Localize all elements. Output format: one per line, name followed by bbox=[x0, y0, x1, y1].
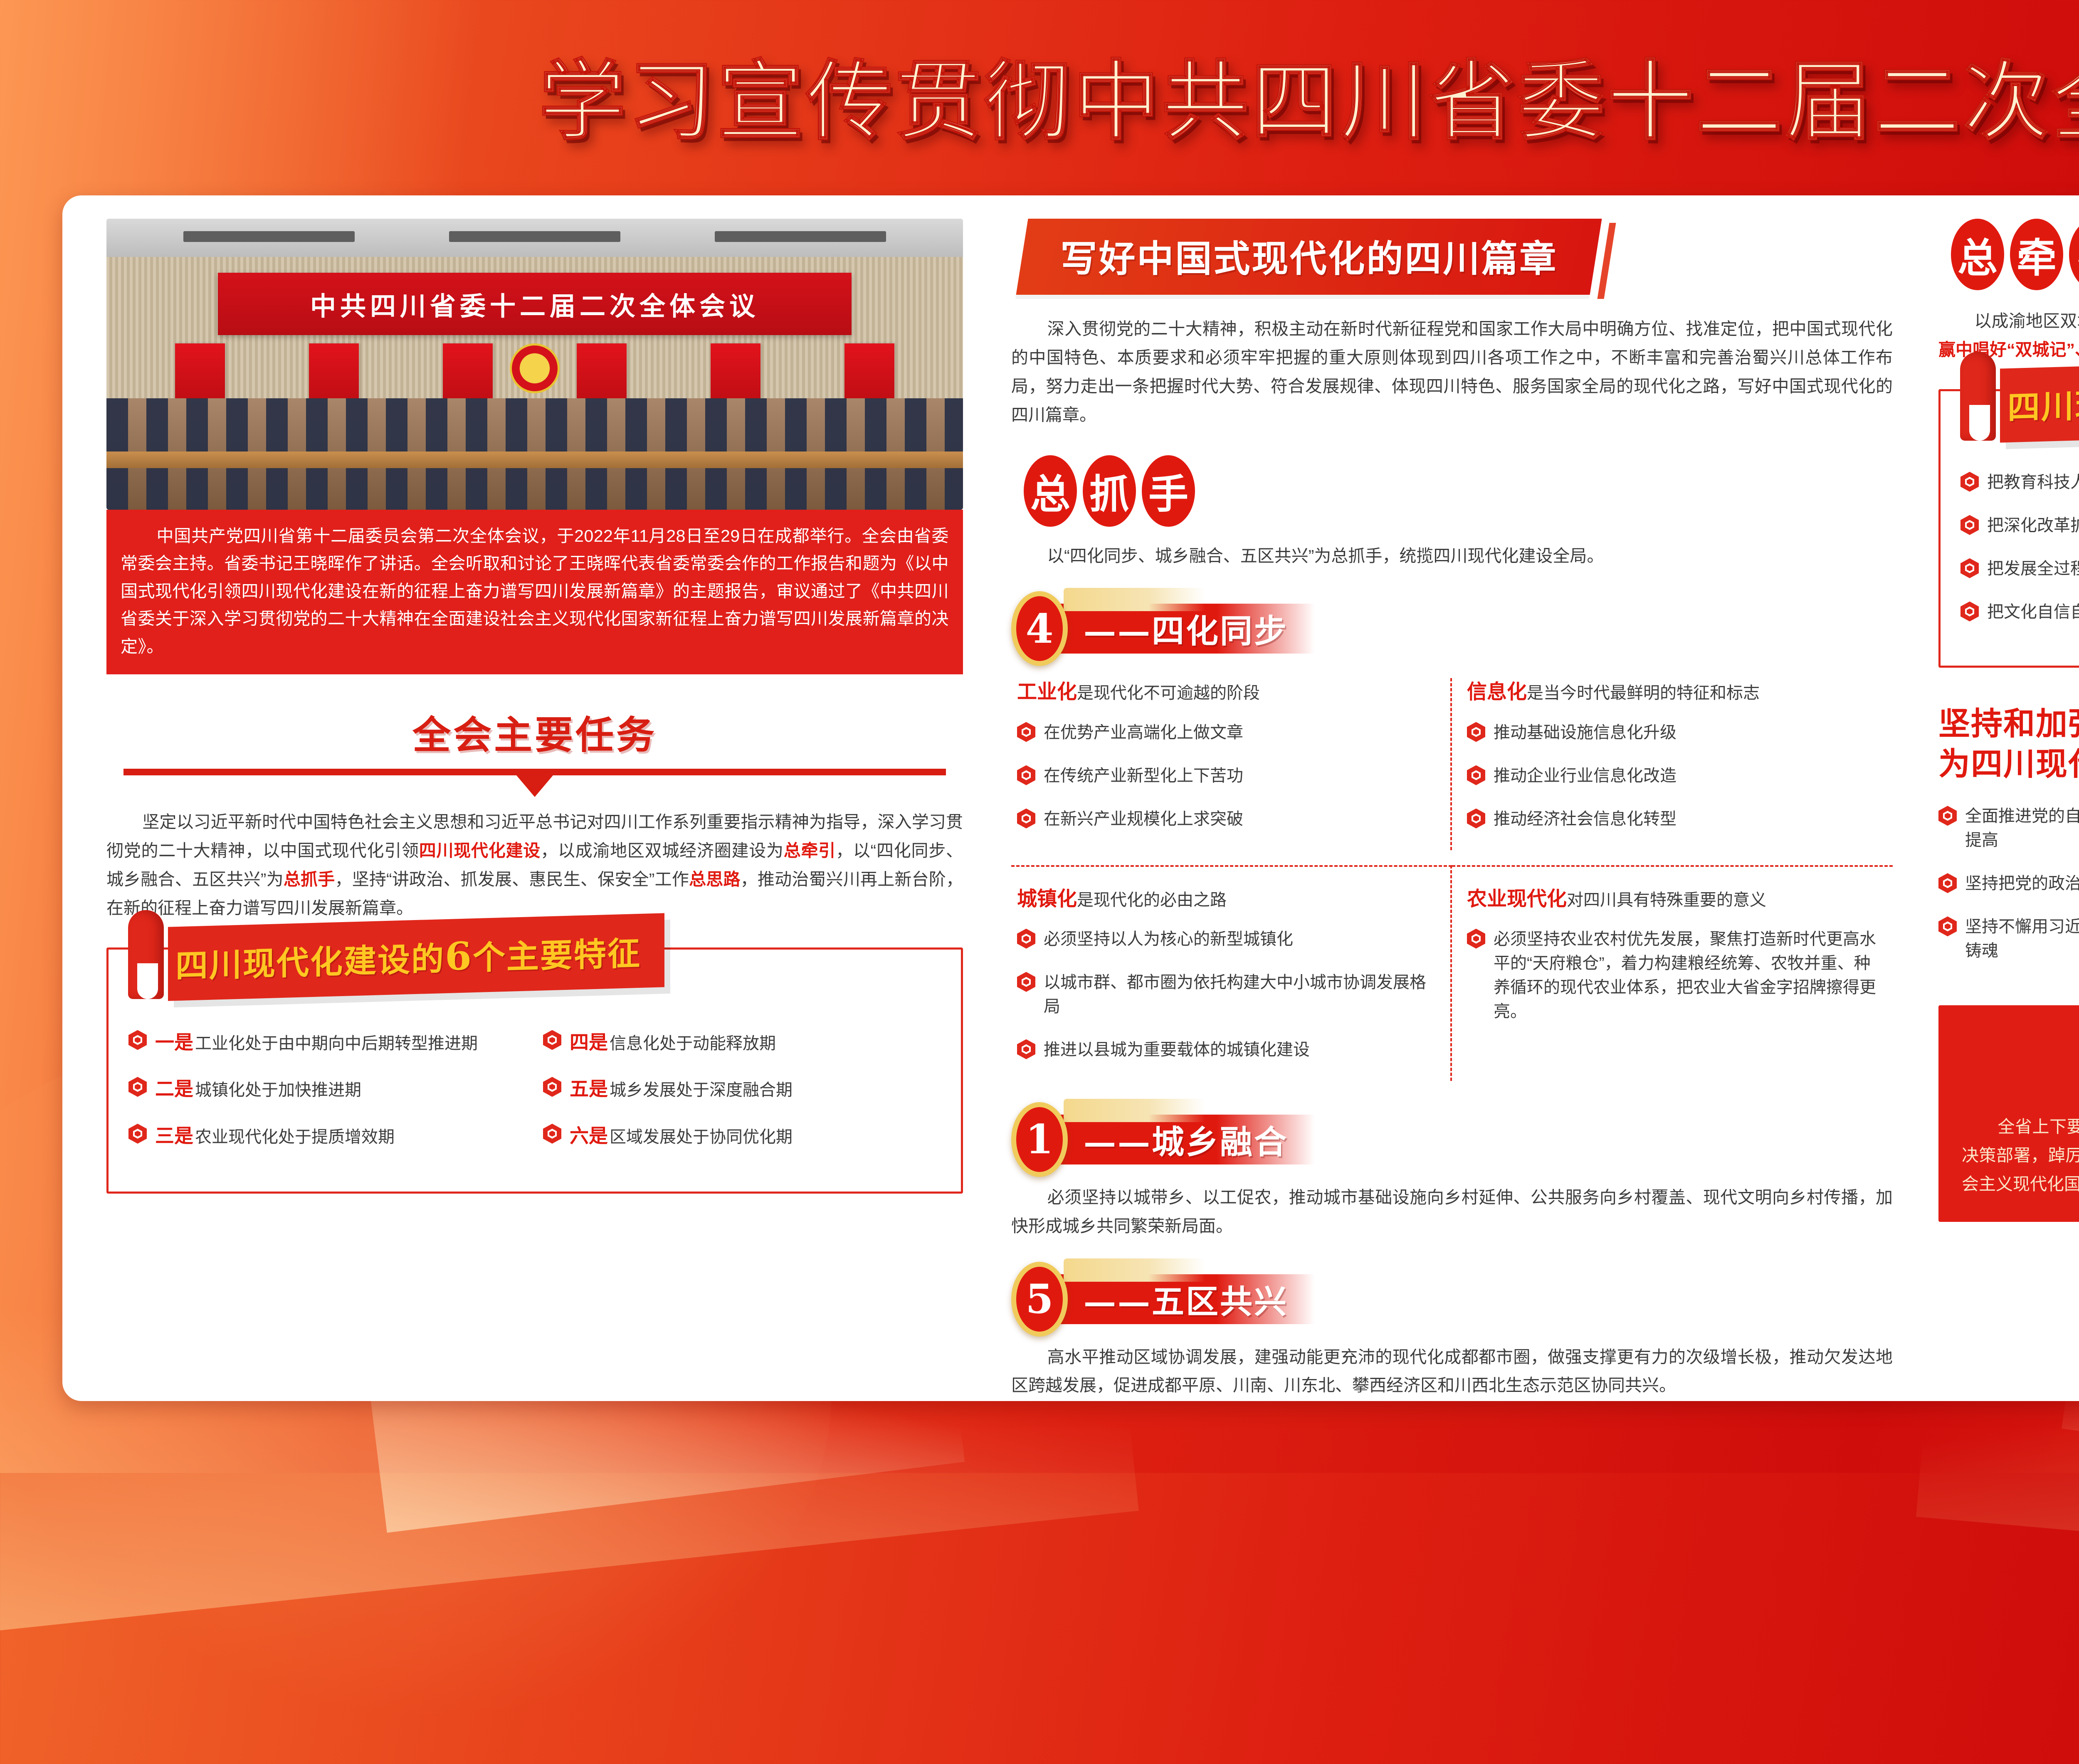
list-item: 坚持不懈用习近平新时代中国特色社会主义思想凝心铸魂 bbox=[1938, 915, 2079, 963]
quadrant-key: 信息化 bbox=[1467, 680, 1527, 703]
list-item: 以城市群、都市圈为依托构建大中小城市协调发展格局 bbox=[1017, 970, 1435, 1019]
main-task-heading-block: 全会主要任务 bbox=[106, 704, 963, 788]
features-tab-suffix: 个主要特征 bbox=[473, 934, 641, 977]
tasks-tab-label: 四川现代化建设的7项重点任务 bbox=[2007, 369, 2079, 429]
quadrant-urbanization: 城镇化是现代化的必由之路 必须坚持以人为核心的新型城镇化 以城市群、都市圈为依托… bbox=[1011, 865, 1452, 1081]
features-tab-body: 四川现代化建设的6个主要特征 bbox=[168, 913, 664, 1001]
list-item: 四是信息化处于动能释放期 bbox=[543, 1029, 941, 1056]
tasks-panel: 四川现代化建设的7项重点任务 把教育科技人才作为战略先导 把深化改革扩大开放作为… bbox=[1938, 389, 2079, 668]
hexagon-bullet-icon bbox=[1017, 972, 1035, 992]
hexagon-bullet-icon bbox=[128, 1030, 147, 1050]
chapter-ribbon-edge bbox=[1598, 223, 1616, 299]
hexagon-bullet-icon bbox=[1938, 806, 1957, 826]
quadrant-title: 农业现代化对四川具有特殊重要的意义 bbox=[1467, 885, 1878, 913]
list-item: 全面推进党的自我净化、自我完善、自我革新、自我提高 bbox=[1938, 804, 2079, 852]
feature-lead: 四是 bbox=[570, 1031, 608, 1053]
list-item-text: 推动企业行业信息化改造 bbox=[1494, 764, 1677, 788]
list-item-text: 在传统产业新型化上下苦功 bbox=[1044, 764, 1243, 788]
ceiling-light bbox=[449, 231, 620, 242]
quadrant-list: 在优势产业高端化上做文章 在传统产业新型化上下苦功 在新兴产业规模化上求突破 bbox=[1017, 720, 1435, 831]
main-task-hl1: 四川现代化建设 bbox=[419, 841, 541, 860]
chapter-ribbon-body: 写好中国式现代化的四川篇章 bbox=[1016, 219, 1602, 295]
hexagon-bullet-icon bbox=[543, 1030, 561, 1050]
photo-desk bbox=[106, 451, 963, 468]
quadrant-list: 推动基础设施信息化升级 推动企业行业信息化改造 推动经济社会信息化转型 bbox=[1467, 720, 1878, 831]
scroll-curl-inner bbox=[137, 963, 158, 999]
hexagon-bullet-icon bbox=[128, 1077, 147, 1097]
feature-lead: 二是 bbox=[155, 1078, 193, 1100]
feature-body: 城乡发展处于深度融合期 bbox=[610, 1081, 793, 1099]
list-item-text: 必须坚持以人为核心的新型城镇化 bbox=[1044, 927, 1293, 951]
list-item-text: 推进以县城为重要载体的城镇化建设 bbox=[1044, 1038, 1310, 1062]
main-task-hl2: 总牵引 bbox=[784, 841, 836, 860]
hexagon-bullet-icon bbox=[128, 1124, 147, 1144]
list-item-text: 把文化自信自强作为持久精神力量 bbox=[1987, 600, 2079, 624]
feature-body: 城镇化处于加快推进期 bbox=[195, 1081, 361, 1099]
heading-rule-bar bbox=[123, 769, 946, 775]
quadrant-list: 必须坚持以人为核心的新型城镇化 以城市群、都市圈为依托构建大中小城市协调发展格局… bbox=[1017, 927, 1435, 1062]
quadrant-agricultural-modernization: 农业现代化对四川具有特殊重要的意义 必须坚持农业农村优先发展，聚焦打造新时代更高… bbox=[1452, 865, 1893, 1081]
middle-column: 写好中国式现代化的四川篇章 深入贯彻党的二十大精神，积极主动在新时代新征程党和国… bbox=[988, 211, 1915, 1389]
list-item: 在优势产业高端化上做文章 bbox=[1017, 720, 1435, 745]
party-leadership-line2: 为四川现代化建设提供坚强保证 bbox=[1938, 744, 2079, 784]
chapter-ribbon-heading: 写好中国式现代化的四川篇章 bbox=[1022, 219, 1596, 295]
five-zones-heading: 5 ——五区共兴 bbox=[1011, 1268, 1893, 1330]
list-item: 二是城镇化处于加快推进期 bbox=[128, 1075, 526, 1103]
party-leadership-heading: 坚持和加强党的全面领导 为四川现代化建设提供坚强保证 bbox=[1938, 703, 2079, 785]
feature-body: 区域发展处于协同优化期 bbox=[610, 1128, 793, 1146]
photo-banner-text: 中共四川省委十二届二次全体会议 bbox=[310, 285, 759, 323]
poster-header: 学习宣传贯彻中共四川省委十二届二次全会精神 bbox=[0, 0, 2079, 187]
tasks-panel-tab: 四川现代化建设的7项重点任务 bbox=[1955, 362, 2079, 436]
urban-rural-text: 必须坚持以城带乡、以工促农，推动城市基础设施向乡村延伸、公共服务向乡村覆盖、现代… bbox=[1011, 1183, 1893, 1241]
list-item: 在新兴产业规模化上求突破 bbox=[1017, 807, 1435, 831]
tasks-tab-body: 四川现代化建设的7项重点任务 bbox=[2000, 355, 2079, 442]
grand-handle-body: 以“四化同步、城乡融合、五区共兴”为总抓手，统揽四川现代化建设全局。 bbox=[1047, 546, 1604, 565]
hexagon-bullet-icon bbox=[1960, 472, 1979, 492]
stamp-char: 引 bbox=[2069, 219, 2079, 290]
grand-handle-block: 总 抓 手 以“四化同步、城乡融合、五区共兴”为总抓手，统揽四川现代化建设全局。 bbox=[1011, 455, 1893, 570]
main-task-p2: ，以成渝地区双城经济圈建设为 bbox=[541, 841, 784, 860]
feature-text: 二是城镇化处于加快推进期 bbox=[155, 1075, 361, 1103]
list-item: 必须坚持农业农村优先发展，聚焦打造新时代更高水平的“天府粮仓”，着力构建粮经统筹… bbox=[1467, 927, 1878, 1024]
quadrant-title: 信息化是当今时代最鲜明的特征和标志 bbox=[1467, 678, 1878, 706]
five-zones-body: 高水平推动区域协调发展，建强动能更充沛的现代化成都都市圈，做强支撑更有力的次级增… bbox=[1011, 1347, 1893, 1395]
five-zones-text: 高水平推动区域协调发展，建强动能更充沛的现代化成都都市圈，做强支撑更有力的次级增… bbox=[1011, 1343, 1893, 1400]
features-left-list: 一是工业化处于由中期向中后期转型推进期 二是城镇化处于加快推进期 三是农业现代化… bbox=[128, 1029, 526, 1150]
feature-lead: 五是 bbox=[570, 1078, 608, 1100]
heading-rule-arrow-icon bbox=[516, 775, 553, 797]
list-item: 把深化改革扩大开放作为根本动力 bbox=[1960, 513, 2079, 538]
list-item: 把教育科技人才作为战略先导 bbox=[1960, 470, 2079, 494]
list-item-text: 把教育科技人才作为战略先导 bbox=[1987, 470, 2079, 494]
list-item: 在传统产业新型化上下苦功 bbox=[1017, 764, 1435, 788]
five-zones-number: 5 bbox=[1011, 1262, 1068, 1337]
call-text: 全省上下要更加紧密地团结在以习近平同志为核心的党中央周围，全面贯彻落实党的二十大… bbox=[1962, 1113, 2079, 1199]
hexagon-bullet-icon bbox=[1938, 873, 1957, 893]
scroll-curl-icon bbox=[123, 920, 168, 994]
ceiling-light bbox=[715, 231, 886, 242]
grand-traction-text: 以成渝地区双城经济圈建设作为四川现代化建设的总牵引，加强与重庆方面全方位协作，在… bbox=[1938, 307, 2079, 364]
features-tab-label: 四川现代化建设的6个主要特征 bbox=[175, 927, 641, 987]
hexagon-bullet-icon bbox=[1467, 765, 1485, 785]
five-zones-title: ——五区共兴 bbox=[1084, 1276, 1288, 1322]
tasks-left-column: 把教育科技人才作为战略先导 把深化改革扩大开放作为根本动力 把发展全过程人民民主… bbox=[1960, 470, 2079, 643]
scroll-curl-icon bbox=[1955, 362, 2000, 436]
party-leadership-left-list: 全面推进党的自我净化、自我完善、自我革新、自我提高 坚持把党的政治建设摆在首位 … bbox=[1938, 804, 2079, 963]
list-item-text: 坚持不懈用习近平新时代中国特色社会主义思想凝心铸魂 bbox=[1965, 915, 2079, 963]
scroll-curl-inner bbox=[1969, 405, 1990, 441]
hexagon-bullet-icon bbox=[1467, 722, 1485, 742]
grand-traction-block: 总 牵 引 以成渝地区双城经济圈建设作为四川现代化建设的总牵引，加强与重庆方面全… bbox=[1938, 219, 2079, 364]
five-zones-title-bar: ——五区共兴 bbox=[1057, 1274, 1315, 1324]
feature-text: 六是区域发展处于协同优化期 bbox=[570, 1122, 793, 1150]
urban-rural-title: ——城乡融合 bbox=[1084, 1116, 1288, 1163]
features-right-list: 四是信息化处于动能释放期 五是城乡发展处于深度融合期 六是区域发展处于协同优化期 bbox=[543, 1029, 941, 1150]
photo-caption-text: 中国共产党四川省第十二届委员会第二次全体会议，于2022年11月28日至29日在… bbox=[121, 526, 949, 656]
tasks-columns: 把教育科技人才作为战略先导 把深化改革扩大开放作为根本动力 把发展全过程人民民主… bbox=[1960, 470, 2079, 643]
quadrant-key: 农业现代化 bbox=[1467, 887, 1567, 910]
list-item: 把文化自信自强作为持久精神力量 bbox=[1960, 600, 2079, 624]
quadrant-desc: 是现代化的必由之路 bbox=[1077, 891, 1227, 909]
list-item-text: 全面推进党的自我净化、自我完善、自我革新、自我提高 bbox=[1965, 804, 2079, 852]
quadrant-desc: 是现代化不可逾越的阶段 bbox=[1077, 684, 1260, 702]
list-item-text: 坚持把党的政治建设摆在首位 bbox=[1965, 871, 2079, 896]
quadrant-informatization: 信息化是当今时代最鲜明的特征和标志 推动基础设施信息化升级 推动企业行业信息化改… bbox=[1452, 678, 1893, 850]
list-item: 推进以县城为重要载体的城镇化建设 bbox=[1017, 1038, 1435, 1062]
list-item-text: 必须坚持农业农村优先发展，聚焦打造新时代更高水平的“天府粮仓”，着力构建粮经统筹… bbox=[1494, 927, 1878, 1024]
list-item: 坚持把党的政治建设摆在首位 bbox=[1938, 871, 2079, 896]
hexagon-bullet-icon bbox=[1017, 1039, 1035, 1059]
features-left-column: 一是工业化处于由中期向中后期转型推进期 二是城镇化处于加快推进期 三是农业现代化… bbox=[128, 1029, 526, 1169]
stamp-char: 牵 bbox=[2010, 219, 2063, 290]
list-item: 推动基础设施信息化升级 bbox=[1467, 720, 1878, 745]
party-leadership-left-column: 全面推进党的自我净化、自我完善、自我革新、自我提高 坚持把党的政治建设摆在首位 … bbox=[1938, 804, 2079, 982]
hexagon-bullet-icon bbox=[1017, 929, 1035, 949]
list-item: 六是区域发展处于协同优化期 bbox=[543, 1122, 941, 1150]
list-item-text: 以城市群、都市圈为依托构建大中小城市协调发展格局 bbox=[1044, 970, 1435, 1019]
features-columns: 一是工业化处于由中期向中后期转型推进期 二是城镇化处于加快推进期 三是农业现代化… bbox=[128, 1029, 941, 1169]
feature-lead: 六是 bbox=[570, 1125, 608, 1147]
call-body: 全省上下要更加紧密地团结在以习近平同志为核心的党中央周围，全面贯彻落实党的二十大… bbox=[1962, 1117, 2079, 1194]
hexagon-bullet-icon bbox=[1960, 558, 1979, 578]
quadrant-desc: 对四川具有特殊重要的意义 bbox=[1567, 891, 1766, 909]
features-tab-number: 6 bbox=[445, 933, 473, 979]
heading-rule bbox=[106, 769, 963, 788]
main-task-heading: 全会主要任务 bbox=[106, 704, 963, 760]
list-item-text: 在新兴产业规模化上求突破 bbox=[1044, 807, 1243, 831]
ceiling-light bbox=[183, 231, 355, 242]
content-card: 中共四川省委十二届二次全体会议 中国共产党四川省第十二届委员会第二次全体会议，于… bbox=[62, 195, 2079, 1401]
stamp-char: 抓 bbox=[1083, 455, 1136, 527]
list-item-text: 把发展全过程人民民主作为重要保障 bbox=[1987, 557, 2079, 581]
stamp-char: 手 bbox=[1142, 455, 1195, 527]
feature-text: 五是城乡发展处于深度融合期 bbox=[570, 1075, 793, 1103]
party-leadership-line1: 坚持和加强党的全面领导 bbox=[1938, 703, 2079, 744]
page-title: 学习宣传贯彻中共四川省委十二届二次全会精神 bbox=[539, 31, 2079, 156]
list-item-text: 推动基础设施信息化升级 bbox=[1494, 720, 1677, 745]
chapter-ribbon-label: 写好中国式现代化的四川篇章 bbox=[1060, 229, 1558, 282]
quadrant-key: 城镇化 bbox=[1017, 887, 1077, 910]
hexagon-bullet-icon bbox=[1467, 809, 1485, 829]
photo-stage-banner: 中共四川省委十二届二次全体会议 bbox=[218, 273, 852, 335]
quadrant-desc: 是当今时代最鲜明的特征和标志 bbox=[1527, 684, 1760, 702]
features-panel-tab: 四川现代化建设的6个主要特征 bbox=[123, 920, 664, 994]
right-column: 总 牵 引 以成渝地区双城经济圈建设作为四川现代化建设的总牵引，加强与重庆方面全… bbox=[1915, 211, 2079, 1389]
list-item: 一是工业化处于由中期向中后期转型推进期 bbox=[128, 1029, 526, 1056]
feature-body: 信息化处于动能释放期 bbox=[610, 1034, 776, 1053]
stamp-char: 总 bbox=[1024, 455, 1077, 527]
feature-body: 工业化处于由中期向中后期转型推进期 bbox=[195, 1034, 478, 1053]
features-right-column: 四是信息化处于动能释放期 五是城乡发展处于深度融合期 六是区域发展处于协同优化期 bbox=[543, 1029, 941, 1169]
stamp-char: 总 bbox=[1951, 219, 2004, 290]
tasks-left-list: 把教育科技人才作为战略先导 把深化改革扩大开放作为根本动力 把发展全过程人民民主… bbox=[1960, 470, 2079, 624]
four-sync-heading: 4 ——四化同步 bbox=[1011, 597, 1893, 660]
feature-lead: 一是 bbox=[155, 1031, 193, 1053]
quadrant-industrialization: 工业化是现代化不可逾越的阶段 在优势产业高端化上做文章 在传统产业新型化上下苦功… bbox=[1011, 678, 1452, 850]
party-leadership-columns: 全面推进党的自我净化、自我完善、自我革新、自我提高 坚持把党的政治建设摆在首位 … bbox=[1938, 804, 2079, 982]
grand-handle-text: 以“四化同步、城乡融合、五区共兴”为总抓手，统揽四川现代化建设全局。 bbox=[1011, 542, 1893, 570]
list-item-text: 把深化改革扩大开放作为根本动力 bbox=[1987, 513, 2079, 538]
feature-body: 农业现代化处于提质增效期 bbox=[195, 1128, 395, 1146]
left-column: 中共四川省委十二届二次全体会议 中国共产党四川省第十二届委员会第二次全体会议，于… bbox=[81, 211, 988, 1389]
four-sync-grid: 工业化是现代化不可逾越的阶段 在优势产业高端化上做文章 在传统产业新型化上下苦功… bbox=[1011, 678, 1893, 1081]
grand-handle-stamps: 总 抓 手 bbox=[1024, 455, 1893, 527]
four-sync-title: ——四化同步 bbox=[1084, 605, 1288, 652]
meeting-photo-block: 中共四川省委十二届二次全体会议 中国共产党四川省第十二届委员会第二次全体会议，于… bbox=[106, 219, 963, 674]
hexagon-bullet-icon bbox=[1938, 916, 1957, 936]
meeting-photo: 中共四川省委十二届二次全体会议 bbox=[106, 219, 963, 510]
four-sync-title-bar: ——四化同步 bbox=[1057, 604, 1315, 654]
grand-traction-p1: 以成渝地区双城经济圈建设作为四川现代化建设的总牵引， bbox=[1974, 311, 2079, 331]
quadrant-key: 工业化 bbox=[1017, 680, 1077, 703]
main-task-hl4: 总思路 bbox=[689, 870, 741, 889]
grand-traction-stamps: 总 牵 引 bbox=[1951, 219, 2079, 290]
list-item: 推动经济社会信息化转型 bbox=[1467, 807, 1878, 831]
four-sync-number: 4 bbox=[1011, 591, 1068, 666]
hexagon-bullet-icon bbox=[1467, 929, 1485, 949]
hexagon-bullet-icon bbox=[543, 1077, 561, 1097]
list-item-text: 在优势产业高端化上做文章 bbox=[1044, 720, 1243, 745]
quadrant-title: 工业化是现代化不可逾越的阶段 bbox=[1017, 678, 1435, 706]
quadrant-title: 城镇化是现代化的必由之路 bbox=[1017, 885, 1435, 913]
feature-text: 一是工业化处于由中期向中后期转型推进期 bbox=[155, 1029, 478, 1056]
hexagon-bullet-icon bbox=[1017, 722, 1035, 742]
hexagon-bullet-icon bbox=[1960, 602, 1979, 622]
hexagon-bullet-icon bbox=[1017, 765, 1035, 785]
list-item-text: 推动经济社会信息化转型 bbox=[1494, 807, 1677, 831]
urban-rural-title-bar: ——城乡融合 bbox=[1057, 1115, 1315, 1164]
tasks-tab-prefix: 四川现代化建设的 bbox=[2007, 382, 2079, 427]
feature-text: 四是信息化处于动能释放期 bbox=[570, 1029, 776, 1056]
main-task-text: 坚定以习近平新时代中国特色社会主义思想和习近平总书记对四川工作系列重要指示精神为… bbox=[106, 808, 963, 923]
chapter-text: 深入贯彻党的二十大精神，积极主动在新时代新征程党和国家工作大局中明确方位、找准定… bbox=[1011, 315, 1893, 429]
features-tab-prefix: 四川现代化建设的 bbox=[175, 940, 445, 985]
call-box: 全会号召 全省上下要更加紧密地团结在以习近平同志为核心的党中央周围，全面贯彻落实… bbox=[1938, 1005, 2079, 1222]
urban-rural-number: 1 bbox=[1011, 1102, 1068, 1177]
features-panel: 四川现代化建设的6个主要特征 一是工业化处于由中期向中后期转型推进期 二是城镇化… bbox=[106, 947, 963, 1194]
hexagon-bullet-icon bbox=[543, 1124, 561, 1144]
urban-rural-body: 必须坚持以城带乡、以工促农，推动城市基础设施向乡村延伸、公共服务向乡村覆盖、现代… bbox=[1011, 1188, 1893, 1236]
main-task-hl3: 总抓手 bbox=[284, 870, 335, 889]
list-item: 五是城乡发展处于深度融合期 bbox=[543, 1075, 941, 1103]
urban-rural-heading: 1 ——城乡融合 bbox=[1011, 1108, 1893, 1171]
chapter-body: 深入贯彻党的二十大精神，积极主动在新时代新征程党和国家工作大局中明确方位、找准定… bbox=[1011, 319, 1893, 424]
quadrant-list: 必须坚持农业农村优先发展，聚焦打造新时代更高水平的“天府粮仓”，着力构建粮经统筹… bbox=[1467, 927, 1878, 1024]
list-item: 推动企业行业信息化改造 bbox=[1467, 764, 1878, 788]
list-item: 必须坚持以人为核心的新型城镇化 bbox=[1017, 927, 1435, 951]
feature-lead: 三是 bbox=[155, 1125, 193, 1147]
hexagon-bullet-icon bbox=[1960, 515, 1979, 535]
feature-text: 三是农业现代化处于提质增效期 bbox=[155, 1122, 395, 1150]
list-item: 把发展全过程人民民主作为重要保障 bbox=[1960, 557, 2079, 581]
main-task-p4: ，坚持“讲政治、抓发展、惠民生、保安全”工作 bbox=[335, 870, 689, 889]
hexagon-bullet-icon bbox=[1017, 809, 1035, 829]
photo-caption: 中国共产党四川省第十二届委员会第二次全体会议，于2022年11月28日至29日在… bbox=[106, 510, 963, 674]
list-item: 三是农业现代化处于提质增效期 bbox=[128, 1122, 526, 1150]
